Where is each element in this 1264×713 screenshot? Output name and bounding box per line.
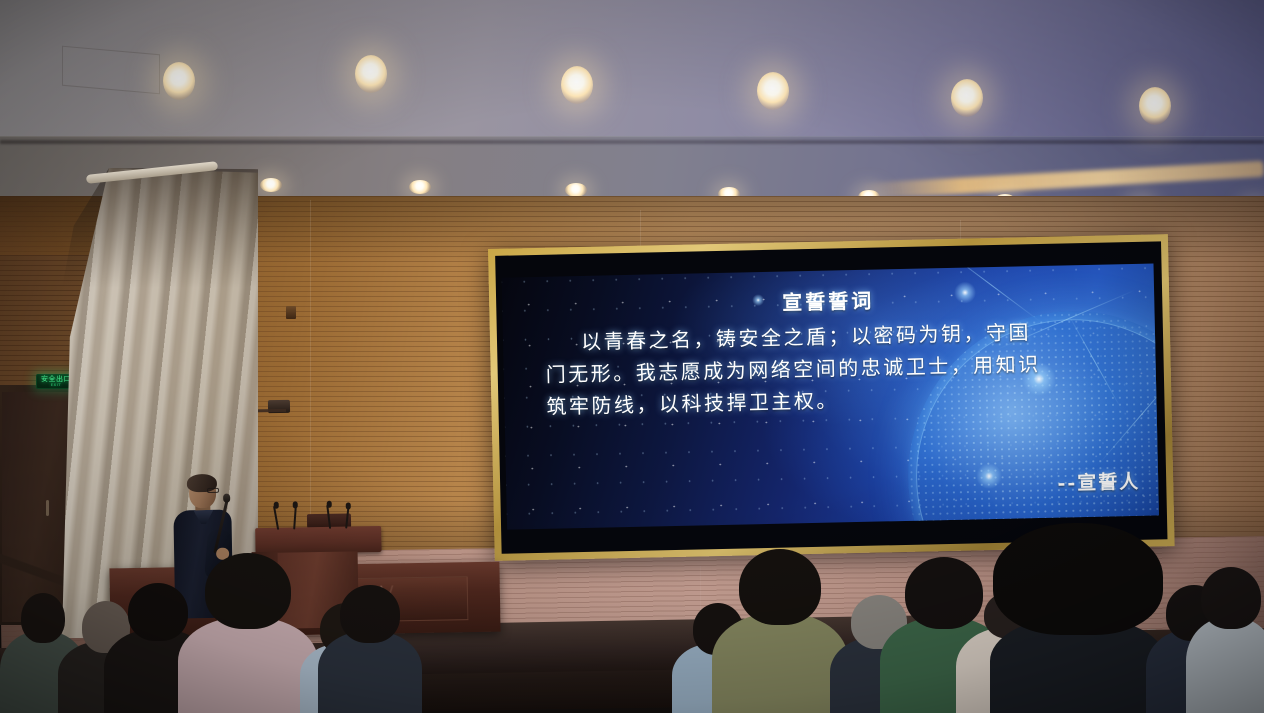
slide-body-line-3: 筑牢防线，以科技捍卫主权。 <box>546 388 839 418</box>
audience-member <box>712 555 848 713</box>
ceiling-seam <box>0 140 1264 144</box>
slide-body: 以青春之名，铸安全之盾；以密码为钥，守国 门无形。我志愿成为网络空间的忠诚卫士，… <box>545 314 1123 423</box>
ceiling-downlight-rear <box>409 180 431 194</box>
projection-screen-frame: 宣誓誓词 以青春之名，铸安全之盾；以密码为钥，守国 门无形。我志愿成为网络空间的… <box>488 234 1175 561</box>
ceiling-downlight <box>561 66 593 104</box>
ceiling-downlight <box>355 55 387 93</box>
podium-microphone-head <box>327 501 332 508</box>
wall-camera <box>268 400 290 413</box>
audience-head <box>993 523 1163 635</box>
ceiling-downlight-rear <box>565 183 587 197</box>
ceiling-downlight <box>951 79 983 117</box>
audience-head <box>205 553 291 629</box>
glasses-icon <box>207 488 219 493</box>
handheld-microphone-head <box>223 494 230 503</box>
audience-body <box>318 631 422 713</box>
slide-canvas: 宣誓誓词 以青春之名，铸安全之盾；以密码为钥，守国 门无形。我志愿成为网络空间的… <box>502 263 1159 529</box>
slide-signature: --宣誓人 <box>1057 467 1140 496</box>
audience-head <box>1201 567 1261 629</box>
ceiling-downlight <box>163 62 195 100</box>
ceiling-downlight <box>1139 87 1171 125</box>
audience-member <box>1186 571 1264 713</box>
podium-microphone-head <box>274 502 279 509</box>
podium-top <box>255 526 381 554</box>
audience-head <box>739 549 821 625</box>
ceiling-vent <box>62 46 160 95</box>
audience-head <box>340 585 400 643</box>
audience-body <box>1186 617 1264 713</box>
projection-screen: 宣誓誓词 以青春之名，铸安全之盾；以密码为钥，守国 门无形。我志愿成为网络空间的… <box>495 241 1167 553</box>
audience-body <box>178 617 318 713</box>
exit-sign-label-en: EXIT <box>51 383 61 387</box>
ceiling-downlight-rear <box>260 178 282 192</box>
slide-text-block: 宣誓誓词 以青春之名，铸安全之盾；以密码为钥，守国 门无形。我志愿成为网络空间的… <box>502 263 1159 529</box>
audience-member <box>318 599 422 713</box>
ceiling-downlight <box>757 72 789 110</box>
exit-sign-label-cn: 安全出口 <box>41 376 71 383</box>
wall-fixture <box>286 306 296 319</box>
audience-body <box>712 613 848 713</box>
podium-microphone-head <box>293 501 298 508</box>
door-handle[interactable] <box>46 500 49 516</box>
podium-microphone-head <box>346 502 351 509</box>
audience-member <box>178 565 318 713</box>
audience-member <box>990 529 1166 713</box>
slide-body-line-2: 门无形。我志愿成为网络空间的忠诚卫士，用知识 <box>545 352 1040 387</box>
auditorium-photo: 安全出口 EXIT 宣誓誓词 <box>0 0 1264 713</box>
